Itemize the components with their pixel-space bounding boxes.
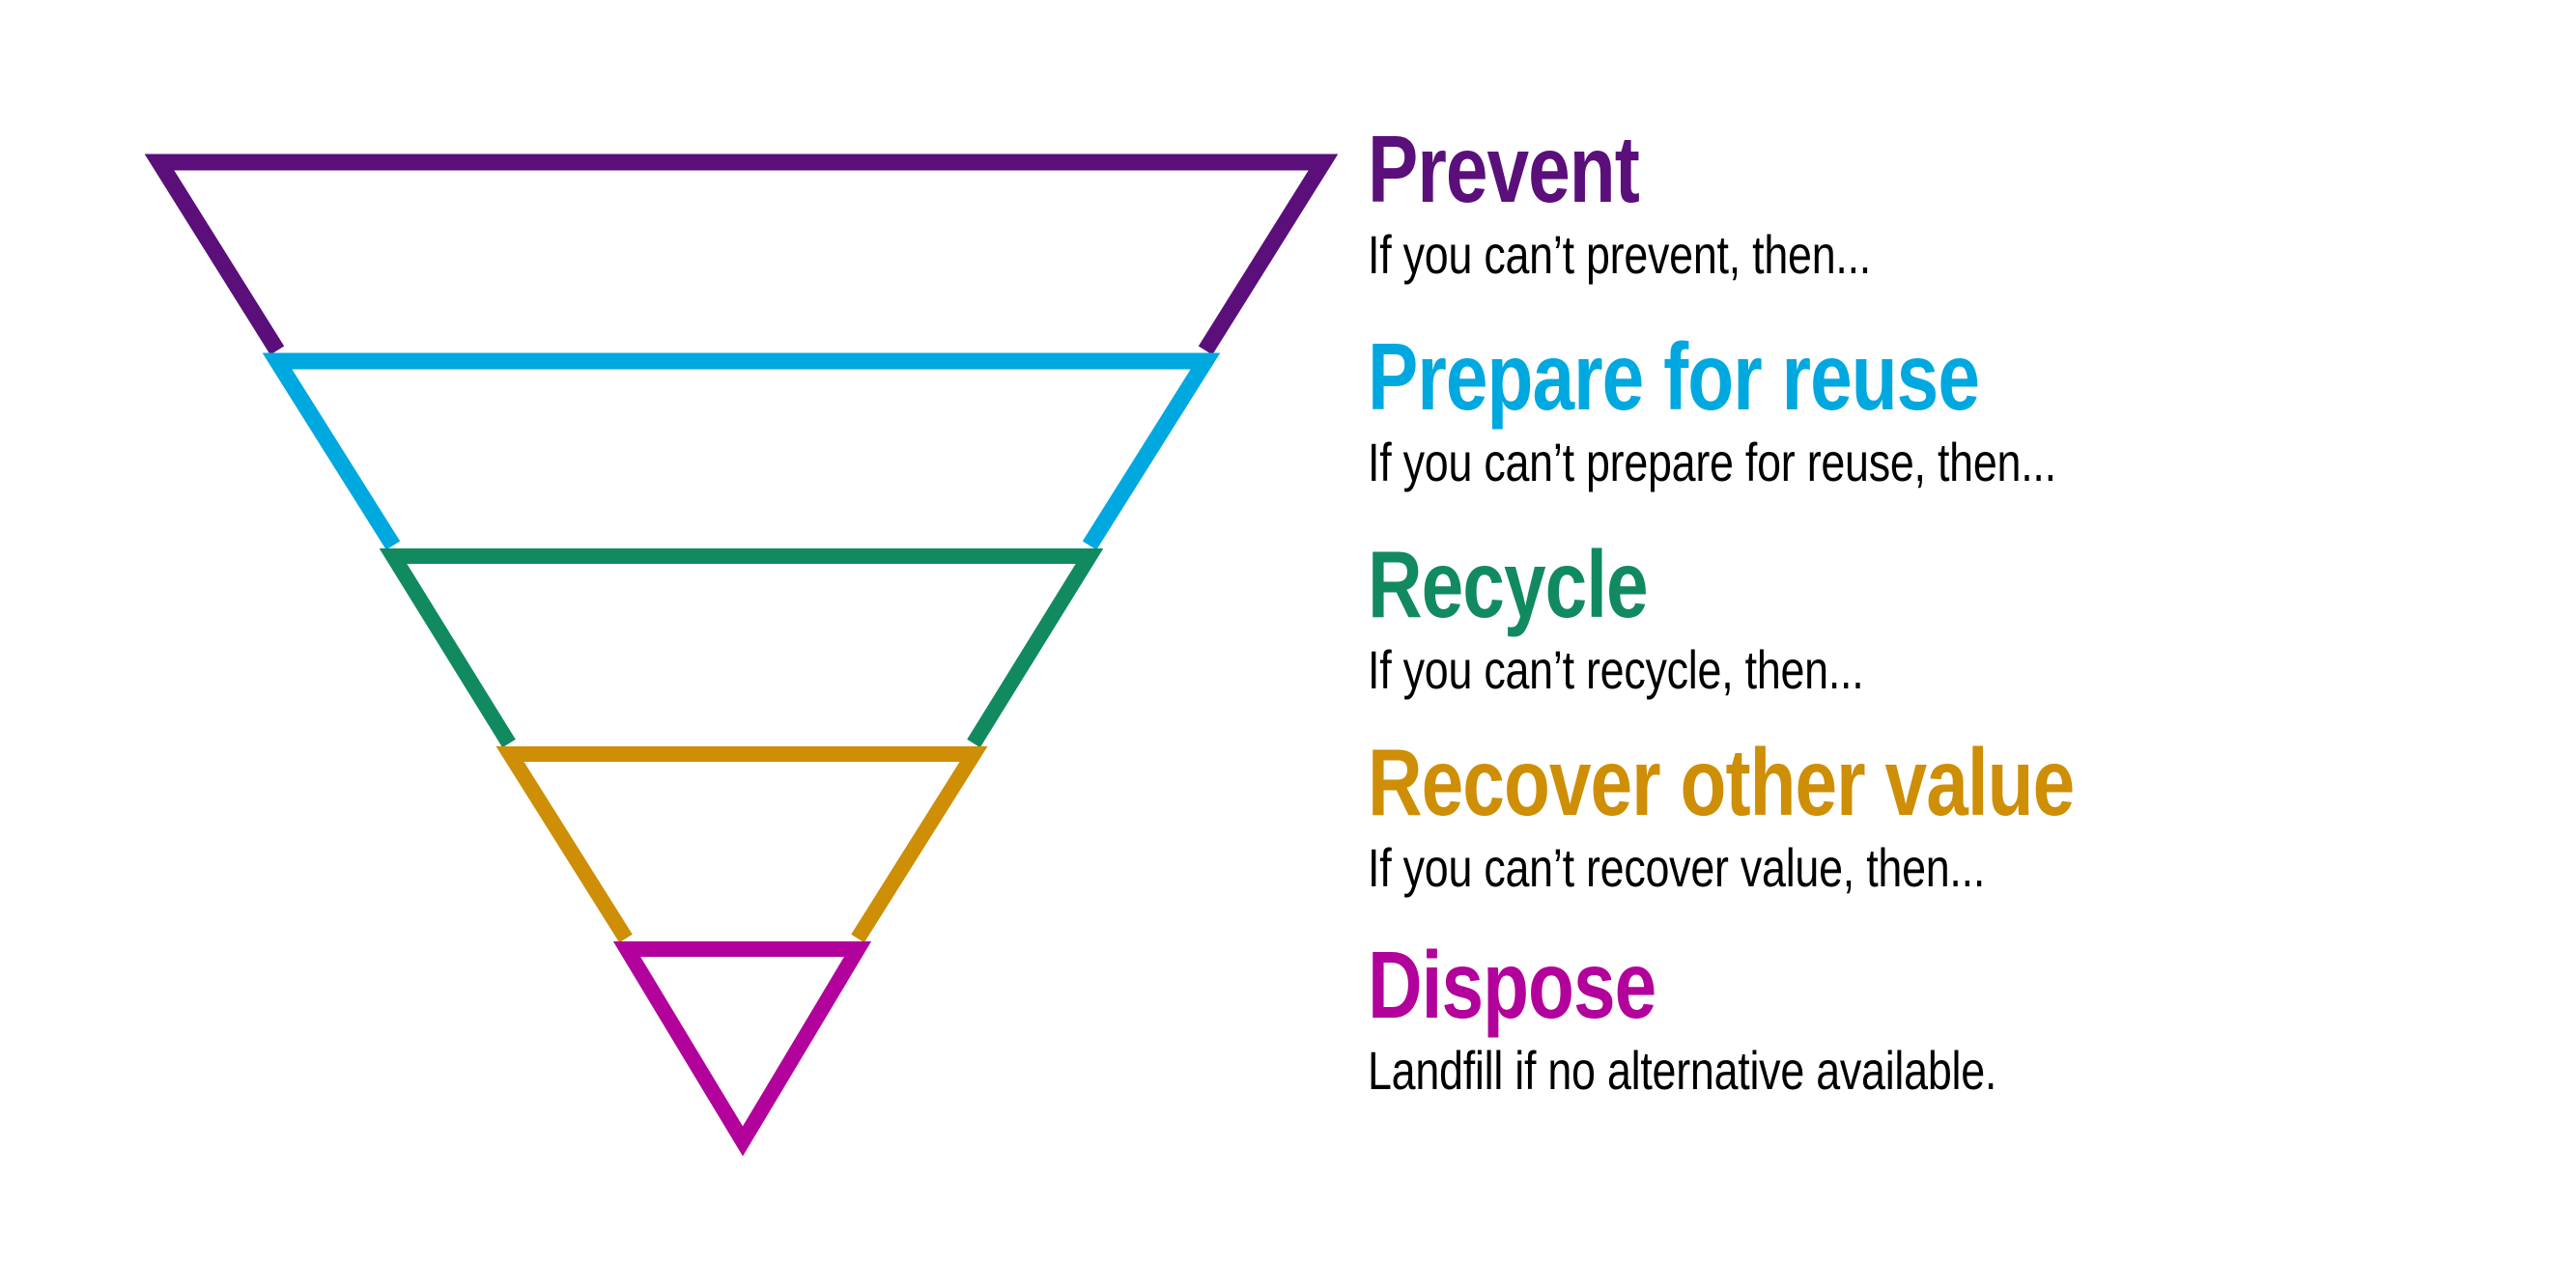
funnel-band-recycle-outline (393, 556, 1090, 743)
waste-hierarchy-funnel (0, 0, 1372, 1288)
funnel-band-recover (510, 754, 974, 938)
legend-item-recover-other-value: Recover other value If you can’t recover… (1368, 737, 2576, 895)
legend-item-recycle: Recycle If you can’t recycle, then... (1368, 539, 2576, 697)
legend-item-prevent: Prevent If you can’t prevent, then... (1368, 124, 2576, 282)
funnel-band-prevent-outline (159, 162, 1323, 350)
waste-hierarchy-diagram: Prevent If you can’t prevent, then... Pr… (0, 0, 2576, 1288)
level-subtitle-recover-other-value: If you can’t recover value, then... (1368, 841, 2335, 895)
funnel-band-recycle (393, 556, 1090, 743)
level-subtitle-prepare-for-reuse: If you can’t prepare for reuse, then... (1368, 435, 2335, 490)
level-title-prevent: Prevent (1368, 124, 2335, 214)
level-title-recover-other-value: Recover other value (1368, 737, 2335, 827)
level-title-recycle: Recycle (1368, 539, 2335, 630)
funnel-band-dispose-outline (627, 949, 858, 1141)
legend-item-prepare-for-reuse: Prepare for reuse If you can’t prepare f… (1368, 331, 2576, 490)
funnel-band-prepare-outline (277, 361, 1205, 546)
level-subtitle-recycle: If you can’t recycle, then... (1368, 643, 2335, 697)
level-title-dispose: Dispose (1368, 939, 2335, 1030)
level-subtitle-dispose: Landfill if no alternative available. (1368, 1044, 2335, 1098)
funnel-band-dispose (627, 949, 858, 1141)
funnel-band-recover-outline (510, 754, 974, 938)
level-subtitle-prevent: If you can’t prevent, then... (1368, 228, 2335, 282)
legend-item-dispose: Dispose Landfill if no alternative avail… (1368, 939, 2576, 1098)
hierarchy-legend: Prevent If you can’t prevent, then... Pr… (1368, 0, 2576, 1288)
level-title-prepare-for-reuse: Prepare for reuse (1368, 331, 2335, 422)
funnel-band-prevent (159, 162, 1323, 350)
funnel-band-prepare (277, 361, 1205, 546)
